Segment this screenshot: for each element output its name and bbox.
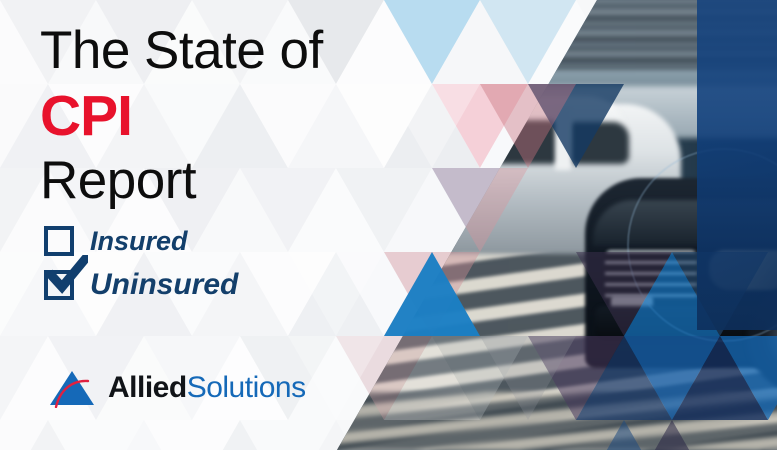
- page-title: The State of CPI Report: [40, 24, 440, 207]
- empty-checkbox-icon[interactable]: [44, 226, 74, 256]
- logo-wordmark: AlliedSolutions: [108, 371, 306, 405]
- report-side-bar: REPORT: [697, 0, 777, 330]
- cover-content: The State of CPI Report Insured Uninsure…: [40, 0, 440, 450]
- report-cover: REPORT The State of CPI Report Insured U…: [0, 0, 777, 450]
- checkbox-label-uninsured: Uninsured: [90, 268, 238, 302]
- checkbox-group: Insured Uninsured: [42, 219, 238, 307]
- title-line-1: The State of: [40, 24, 440, 77]
- checkbox-row-insured[interactable]: Insured: [42, 219, 238, 263]
- logo-word-solutions: Solutions: [187, 371, 306, 404]
- checkbox-row-uninsured[interactable]: Uninsured: [42, 263, 238, 307]
- checked-checkbox-icon[interactable]: [44, 270, 74, 300]
- title-highlight: CPI: [40, 88, 440, 145]
- logo-word-allied: Allied: [108, 371, 187, 404]
- allied-triangle-icon: [48, 368, 96, 408]
- allied-solutions-logo[interactable]: AlliedSolutions: [48, 368, 306, 408]
- checkbox-label-insured: Insured: [90, 226, 188, 257]
- title-line-3: Report: [40, 154, 440, 207]
